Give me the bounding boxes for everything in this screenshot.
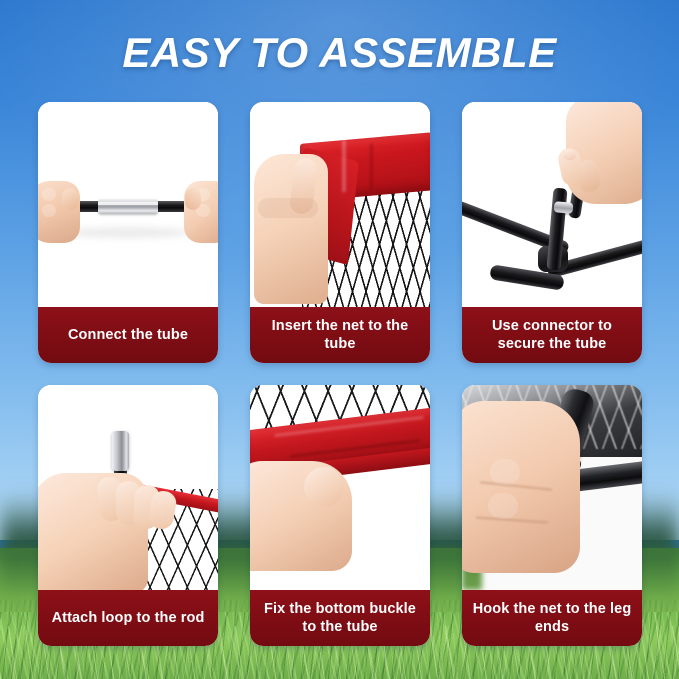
- page-title: EASY TO ASSEMBLE: [0, 28, 679, 78]
- step-card-4[interactable]: Attach loop to the rod: [38, 385, 218, 646]
- silver-connector-sleeve-icon: [98, 199, 158, 214]
- fabric-shadow-crease: [370, 144, 373, 190]
- step-photo-6: [462, 385, 642, 590]
- step-photo-4: [38, 385, 218, 590]
- step-caption-3: Use connector to secure the tube: [462, 307, 642, 363]
- step-caption-4: Attach loop to the rod: [38, 590, 218, 646]
- tube-shadow: [64, 228, 192, 237]
- fingernail: [563, 150, 576, 160]
- step-photo-5: [250, 385, 430, 590]
- metal-connector-ring-icon: [554, 201, 574, 214]
- step-caption-5: Fix the bottom buckle to the tube: [250, 590, 430, 646]
- step-photo-3: [462, 102, 642, 307]
- step-card-5[interactable]: Fix the bottom buckle to the tube: [250, 385, 430, 646]
- right-thumb: [185, 188, 201, 210]
- step-caption-1: Connect the tube: [38, 307, 218, 363]
- step-caption-6: Hook the net to the leg ends: [462, 590, 642, 646]
- steps-grid: Connect the tube Insert the net to the t…: [38, 102, 642, 646]
- step-card-1[interactable]: Connect the tube: [38, 102, 218, 363]
- knuckle-highlight: [42, 188, 56, 201]
- finger-crease: [258, 198, 318, 218]
- knuckle-highlight: [490, 459, 520, 485]
- silver-rod-cap-icon: [112, 431, 129, 471]
- knuckle-highlight: [42, 204, 56, 217]
- step-caption-2: Insert the net to the tube: [250, 307, 430, 363]
- step-card-2[interactable]: Insert the net to the tube: [250, 102, 430, 363]
- fabric-highlight-crease: [342, 140, 346, 192]
- gripping-hand: [254, 154, 328, 304]
- step-card-3[interactable]: Use connector to secure the tube: [462, 102, 642, 363]
- knuckle-highlight: [488, 493, 518, 519]
- infographic-page: EASY TO ASSEMBLE Connect the tube: [0, 0, 679, 679]
- left-thumb: [62, 188, 78, 210]
- step-photo-2: [250, 102, 430, 307]
- step-photo-1: [38, 102, 218, 307]
- step-card-6[interactable]: Hook the net to the leg ends: [462, 385, 642, 646]
